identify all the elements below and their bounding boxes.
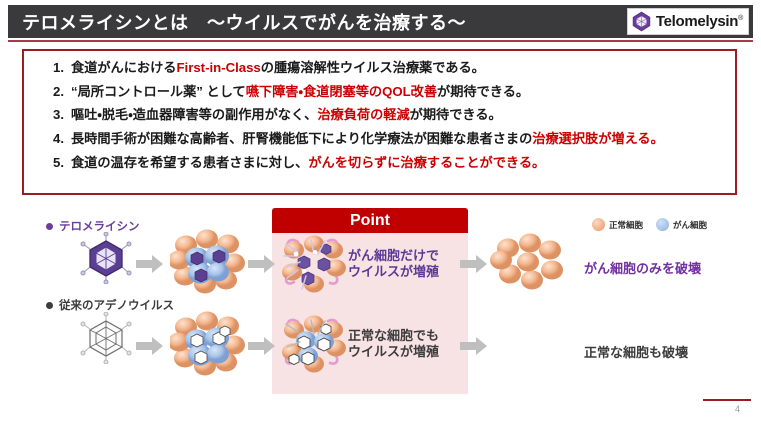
caption-line: がん細胞だけで	[348, 248, 439, 264]
right-arrow-icon	[248, 254, 276, 274]
highlighted-segment: がんを切らずに治療することができる。	[308, 155, 545, 170]
logo-brand-text: Telomelysin	[656, 13, 738, 30]
row-label-adenovirus: 従来のアデノウイルス	[46, 297, 174, 313]
text-segment: 長時間手術が困難な高齢者、肝腎機能低下により化学療法が困難な患者さまの	[71, 131, 532, 146]
text-segment: 食道がんにおける	[71, 60, 177, 75]
list-item: 2. “局所コントロール薬” として嚥下障害・食道閉塞等のQOL改善が期待できる…	[24, 84, 735, 99]
bullet-dot-icon	[46, 302, 53, 309]
normal-cells-remaining-icon	[490, 232, 566, 294]
infected-cell-cluster-icon	[170, 310, 246, 376]
virus-icosahedron-icon	[631, 11, 652, 32]
bursting-all-cell-cluster-icon	[278, 312, 348, 374]
list-item: 5. 食道の温存を希望する患者さまに対し、がんを切らずに治療することができる。	[24, 155, 735, 170]
list-item-text: 嘔吐・脱毛・造血器障害等の副作用がなく、治療負荷の軽減が期待できる。	[71, 107, 502, 122]
list-item-text: 長時間手術が困難な高齢者、肝腎機能低下により化学療法が困難な患者さまの治療選択肢…	[71, 131, 664, 146]
row-label-text: 従来のアデノウイルス	[59, 297, 174, 313]
caption-line: ウイルスが増殖	[348, 344, 439, 360]
right-arrow-icon	[460, 254, 488, 274]
page-title: テロメライシンとは ～ウイルスでがんを治療する～	[8, 9, 466, 35]
text-segment: が期待できる。	[437, 84, 529, 99]
bursting-cancer-cell-cluster-icon	[278, 232, 348, 294]
point-panel-header: Point	[272, 208, 468, 233]
page-number: 4	[735, 404, 740, 414]
list-item: 3. 嘔吐・脱毛・造血器障害等の副作用がなく、治療負荷の軽減が期待できる。	[24, 107, 735, 122]
slide-header-bar: テロメライシンとは ～ウイルスでがんを治療する～ Telomelysin®	[8, 5, 753, 38]
list-item-number: 5.	[42, 155, 71, 170]
text-segment: “局所コントロール薬” として	[71, 84, 246, 99]
mechanism-diagram: Point テロメライシン 従来のアデノウイルス	[0, 200, 761, 400]
key-points-box: 1. 食道がんにおけるFirst-in-Classの腫瘍溶解性ウイルス治療薬であ…	[22, 49, 737, 195]
text-segment: 嘔吐・脱毛・造血器障害等の副作用がなく、	[71, 107, 317, 122]
point-caption-bottom: 正常な細胞でも ウイルスが増殖	[348, 328, 439, 361]
point-caption-top: がん細胞だけで ウイルスが増殖	[348, 248, 439, 281]
list-item: 1. 食道がんにおけるFirst-in-Classの腫瘍溶解性ウイルス治療薬であ…	[24, 60, 735, 75]
right-arrow-icon	[460, 336, 488, 356]
gray-icosahedron-virus-icon	[78, 312, 134, 364]
highlighted-segment: 嚥下障害・食道閉塞等のQOL改善	[246, 84, 437, 99]
bullet-dot-icon	[46, 223, 53, 230]
right-arrow-icon	[136, 254, 164, 274]
right-arrow-icon	[136, 336, 164, 356]
legend-item-cancer-cell: がん細胞	[656, 218, 707, 231]
list-item-number: 1.	[42, 60, 71, 75]
result-text-adenovirus: 正常な細胞も破壊	[584, 342, 688, 361]
list-item-text: 食道の温存を希望する患者さまに対し、がんを切らずに治療することができる。	[71, 155, 545, 170]
list-item: 4. 長時間手術が困難な高齢者、肝腎機能低下により化学療法が困難な患者さまの治療…	[24, 131, 735, 146]
legend-label: 正常細胞	[609, 219, 643, 231]
footer-accent-rule	[703, 399, 751, 401]
highlighted-segment: 治療選択肢が増える。	[532, 131, 663, 146]
cell-type-legend: 正常細胞 がん細胞	[592, 218, 720, 231]
registered-trademark-symbol: ®	[738, 15, 743, 22]
logo-wordmark: Telomelysin®	[656, 14, 743, 29]
right-arrow-icon	[248, 336, 276, 356]
infected-cell-cluster-icon	[170, 228, 246, 294]
caption-line: 正常な細胞でも	[348, 328, 439, 344]
legend-label: がん細胞	[673, 219, 707, 231]
result-text-telomelysin: がん細胞のみを破壊	[584, 258, 701, 277]
list-item-text: “局所コントロール薬” として嚥下障害・食道閉塞等のQOL改善が期待できる。	[71, 84, 529, 99]
legend-item-normal-cell: 正常細胞	[592, 218, 643, 231]
highlighted-segment: 治療負荷の軽減	[317, 107, 409, 122]
text-segment: が期待できる。	[410, 107, 502, 122]
highlighted-segment: First-in-Class	[177, 60, 261, 75]
list-item-number: 2.	[42, 84, 71, 99]
cancer-cell-swatch-icon	[656, 218, 669, 231]
list-item-number: 4.	[42, 131, 71, 146]
text-segment: の腫瘍溶解性ウイルス治療薬である。	[261, 60, 485, 75]
caption-line: ウイルスが増殖	[348, 264, 439, 280]
purple-icosahedron-virus-icon	[78, 232, 134, 284]
list-item-text: 食道がんにおけるFirst-in-Classの腫瘍溶解性ウイルス治療薬である。	[71, 60, 485, 75]
normal-cell-swatch-icon	[592, 218, 605, 231]
telomelysin-logo: Telomelysin®	[627, 8, 749, 35]
text-segment: 食道の温存を希望する患者さまに対し、	[71, 155, 308, 170]
list-item-number: 3.	[42, 107, 71, 122]
header-accent-rule	[8, 40, 753, 42]
